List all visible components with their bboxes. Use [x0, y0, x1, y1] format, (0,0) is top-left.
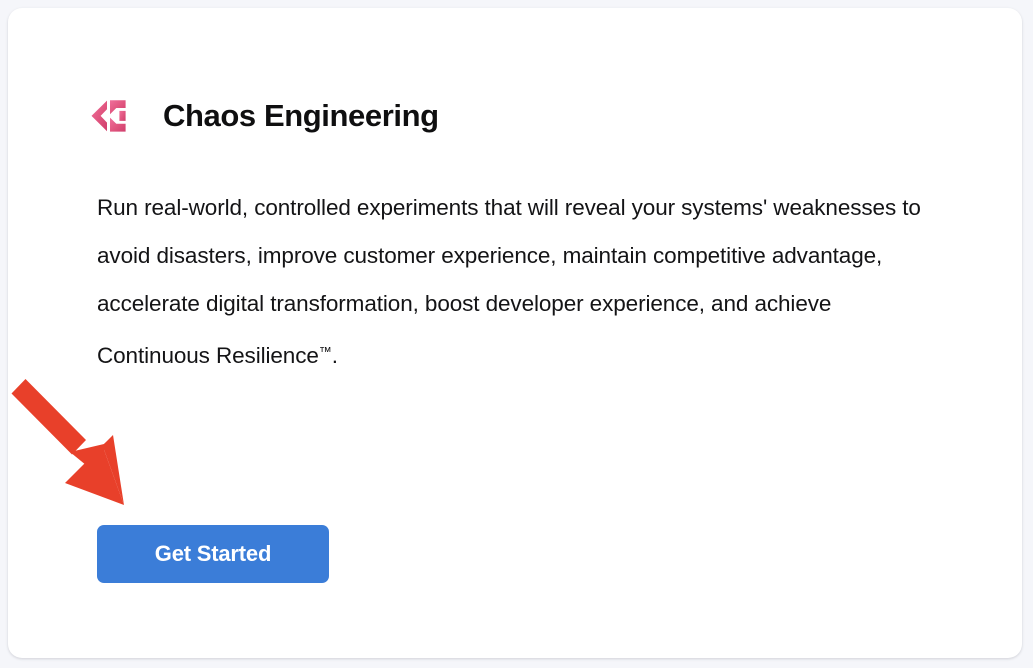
card-description: Run real-world, controlled experiments t…: [97, 184, 942, 380]
description-tail-text: .: [332, 343, 338, 368]
gremlin-logo-icon: [89, 96, 129, 136]
get-started-button[interactable]: Get Started: [97, 525, 329, 583]
description-lead-text: Run real-world, controlled experiments t…: [97, 195, 921, 368]
page-title: Chaos Engineering: [129, 99, 439, 133]
content-card: Chaos Engineering Run real-world, contro…: [8, 8, 1022, 658]
trademark-symbol: ™: [319, 344, 332, 359]
card-header: Chaos Engineering: [89, 90, 439, 142]
